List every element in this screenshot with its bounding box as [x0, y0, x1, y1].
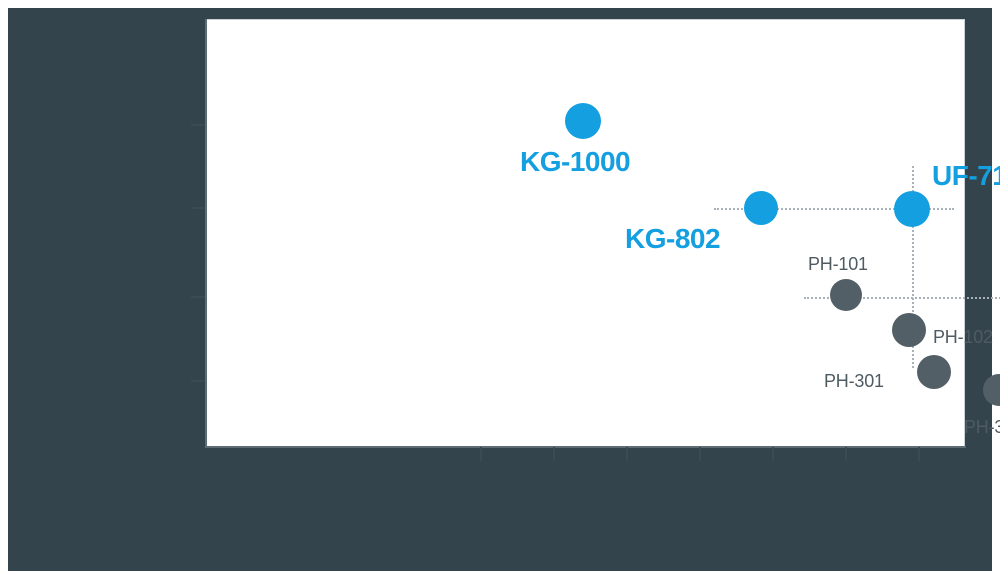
x-axis-spine: [205, 446, 966, 448]
y-axis-tick-3: [191, 380, 205, 382]
data-point-ph-301[interactable]: [917, 355, 951, 389]
data-point-label-ph-101: PH-101: [808, 255, 868, 273]
y-axis-tick-2: [191, 296, 205, 298]
x-axis-tick-5: [845, 447, 847, 461]
x-axis-tick-1: [553, 447, 555, 461]
x-axis-tick-6: [918, 447, 920, 461]
data-point-label-uf-711: UF-711: [932, 162, 1000, 190]
data-point-kg-802[interactable]: [744, 191, 778, 225]
screenshot-root: KG-1000KG-802UF-711UF-702PH-101PH-102PH-…: [0, 0, 1000, 579]
y-axis-tick-0: [191, 124, 205, 126]
y-axis-spine: [205, 19, 207, 448]
data-point-label-kg-1000: KG-1000: [520, 148, 630, 176]
scatter-plot-area: KG-1000KG-802UF-711UF-702PH-101PH-102PH-…: [205, 19, 965, 447]
x-axis-tick-4: [772, 447, 774, 461]
data-point-label-kg-802: KG-802: [625, 225, 720, 253]
x-axis-tick-0: [480, 447, 482, 461]
data-point-label-ph-301: PH-301: [824, 372, 884, 390]
x-axis-tick-2: [626, 447, 628, 461]
data-point-ph-101[interactable]: [830, 279, 862, 311]
data-point-label-ph-102: PH-102: [933, 328, 993, 346]
data-point-uf-711[interactable]: [894, 191, 930, 227]
y-axis-tick-1: [191, 207, 205, 209]
x-axis-tick-3: [699, 447, 701, 461]
data-point-kg-1000[interactable]: [565, 103, 601, 139]
data-point-ph-102[interactable]: [892, 313, 926, 347]
data-point-label-ph-302: PH-302: [964, 418, 1000, 436]
